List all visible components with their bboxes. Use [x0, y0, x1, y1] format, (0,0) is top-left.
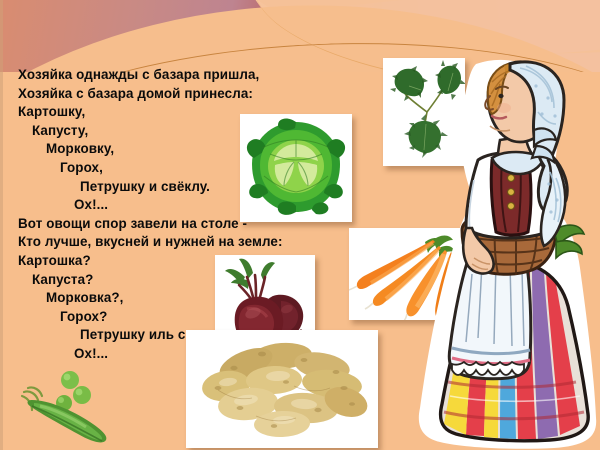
poem-line: Хозяйка однажды с базара пришла,	[18, 66, 378, 85]
woman-with-basket-illustration	[404, 52, 600, 450]
poem-line: Картошка?	[18, 252, 378, 271]
poem-line: Кто лучше, вкусней и нужней на земле:	[18, 233, 378, 252]
potatoes-photo	[186, 330, 378, 448]
left-edge-bar	[0, 0, 3, 450]
cabbage-photo	[240, 114, 352, 222]
poem-line: Хозяйка с базара домой принесла:	[18, 85, 378, 104]
poem-line: Морковка?,	[18, 289, 378, 308]
slide-canvas: Хозяйка однажды с базара пришла, Хозяйка…	[0, 0, 600, 450]
poem-line: Капуста?	[18, 271, 378, 290]
poem-line: Горох?	[18, 308, 378, 327]
pea-pod-image	[2, 362, 162, 448]
